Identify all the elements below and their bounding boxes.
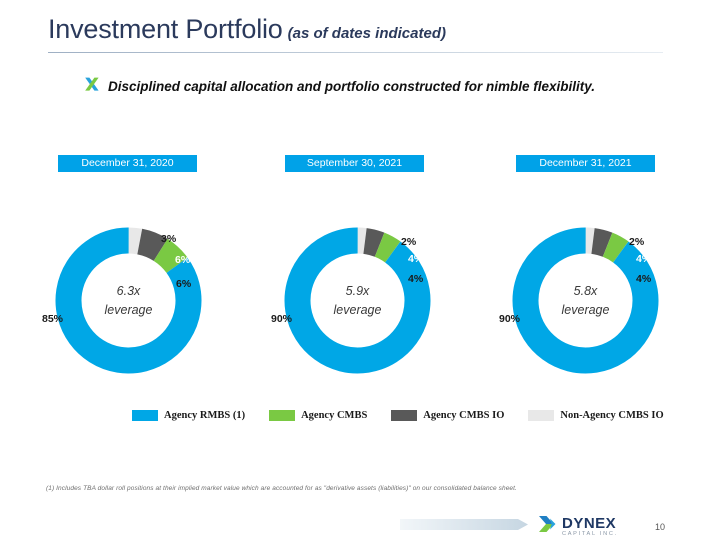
date-badge-2020: December 31, 2020 <box>58 155 197 172</box>
slice-label-non-agency-cmbs-io: 2% <box>401 236 416 248</box>
brand-tagline: CAPITAL INC. <box>562 532 618 538</box>
slice-label-agency-rmbs: 90% <box>271 313 292 325</box>
legend-swatch-icon <box>132 410 158 421</box>
slice-agency-rmbs <box>46 218 211 383</box>
title-divider <box>48 52 663 53</box>
dynex-arrow-icon <box>538 514 557 539</box>
slice-label-agency-rmbs: 90% <box>499 313 520 325</box>
page-title-subtitle: (as of dates indicated) <box>288 25 446 42</box>
page-title-main: Investment Portfolio <box>48 14 283 44</box>
date-badge-sep-2021: September 30, 2021 <box>285 155 424 172</box>
footnote: (1) Includes TBA dollar roll positions a… <box>46 485 517 492</box>
legend-swatch-icon <box>528 410 554 421</box>
date-badge-dec-2021: December 31, 2021 <box>516 155 655 172</box>
tagline-row: Disciplined capital allocation and portf… <box>82 74 595 99</box>
chart-legend: Agency RMBS (1) Agency CMBS Agency CMBS … <box>132 410 664 421</box>
slice-label-agency-cmbs: 4% <box>408 273 423 285</box>
legend-item-agency-rmbs: Agency RMBS (1) <box>132 410 245 421</box>
legend-label: Non-Agency CMBS IO <box>560 410 663 421</box>
legend-swatch-icon <box>269 410 295 421</box>
dynex-x-mark-icon <box>82 74 102 99</box>
page-number: 10 <box>655 522 665 532</box>
legend-item-agency-cmbs-io: Agency CMBS IO <box>391 410 504 421</box>
legend-item-agency-cmbs: Agency CMBS <box>269 410 367 421</box>
slice-label-agency-cmbs-io: 4% <box>408 253 423 265</box>
slice-label-agency-cmbs: 6% <box>176 278 191 290</box>
dynex-wordmark: DYNEX CAPITAL INC. <box>562 516 618 538</box>
donut-chart-sep-2021: 5.9x leverage 90% 4% 4% 2% <box>275 218 440 383</box>
slice-label-agency-cmbs: 4% <box>636 273 651 285</box>
tagline-text: Disciplined capital allocation and portf… <box>108 79 595 94</box>
slice-label-non-agency-cmbs-io: 3% <box>161 233 176 245</box>
slice-label-agency-cmbs-io: 6% <box>175 254 190 266</box>
page-title: Investment Portfolio(as of dates indicat… <box>48 14 446 45</box>
slice-label-non-agency-cmbs-io: 2% <box>629 236 644 248</box>
slice-label-agency-rmbs: 85% <box>42 313 63 325</box>
dynex-logo: DYNEX CAPITAL INC. <box>538 514 618 539</box>
footer-chevron-decoration <box>400 518 530 531</box>
donut-svg <box>46 218 211 383</box>
donut-chart-2020: 6.3x leverage 85% 6% 6% 3% <box>46 218 211 383</box>
brand-name: DYNEX <box>562 516 618 531</box>
legend-label: Agency RMBS (1) <box>164 410 245 421</box>
slice-label-agency-cmbs-io: 4% <box>636 253 651 265</box>
legend-label: Agency CMBS IO <box>423 410 504 421</box>
legend-item-non-agency-cmbs-io: Non-Agency CMBS IO <box>528 410 663 421</box>
donut-chart-dec-2021: 5.8x leverage 90% 4% 4% 2% <box>503 218 668 383</box>
legend-label: Agency CMBS <box>301 410 367 421</box>
legend-swatch-icon <box>391 410 417 421</box>
